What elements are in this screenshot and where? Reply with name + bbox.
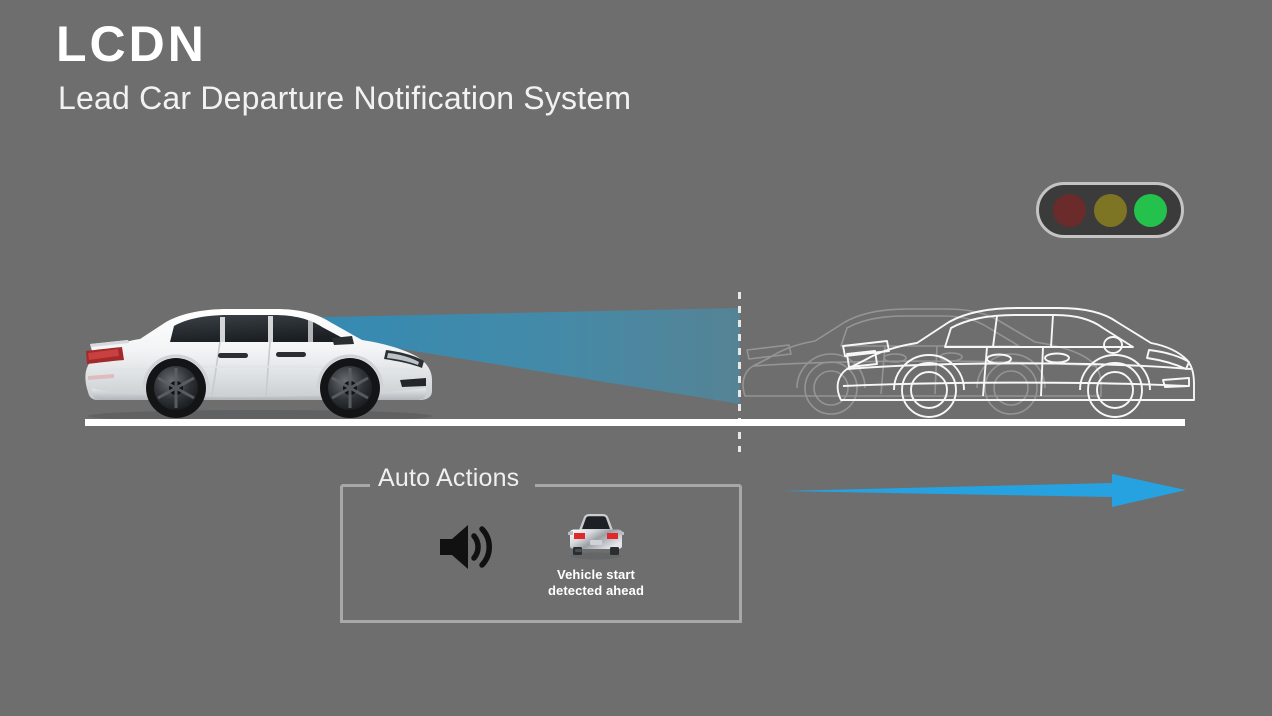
auto-actions-legend: Auto Actions	[378, 466, 519, 491]
page-subtitle: Lead Car Departure Notification System	[58, 81, 956, 116]
car-rear-icon	[563, 510, 629, 560]
page-header: LCDN Lead Car Departure Notification Sys…	[56, 18, 956, 116]
traffic-lamp-green-icon	[1134, 194, 1167, 227]
traffic-lamp-yellow-icon	[1094, 194, 1127, 227]
ego-vehicle	[70, 296, 440, 424]
lead-vehicles-group	[735, 288, 1195, 426]
auto-actions-content: Vehicle start detected ahead	[340, 510, 742, 600]
vehicle-start-alert[interactable]: Vehicle start detected ahead	[548, 510, 644, 600]
departure-reference-line	[738, 292, 741, 452]
speaker-icon[interactable]	[438, 522, 500, 572]
page-title: LCDN	[56, 18, 956, 71]
road-surface-line	[85, 419, 1185, 426]
illustration-canvas: LCDN Lead Car Departure Notification Sys…	[0, 0, 1272, 716]
auto-actions-panel: Auto Actions	[340, 484, 742, 623]
vehicle-start-alert-caption: Vehicle start detected ahead	[548, 567, 644, 600]
forward-motion-arrow	[782, 470, 1186, 510]
traffic-signal[interactable]	[1036, 182, 1184, 238]
traffic-lamp-red-icon	[1053, 194, 1086, 227]
